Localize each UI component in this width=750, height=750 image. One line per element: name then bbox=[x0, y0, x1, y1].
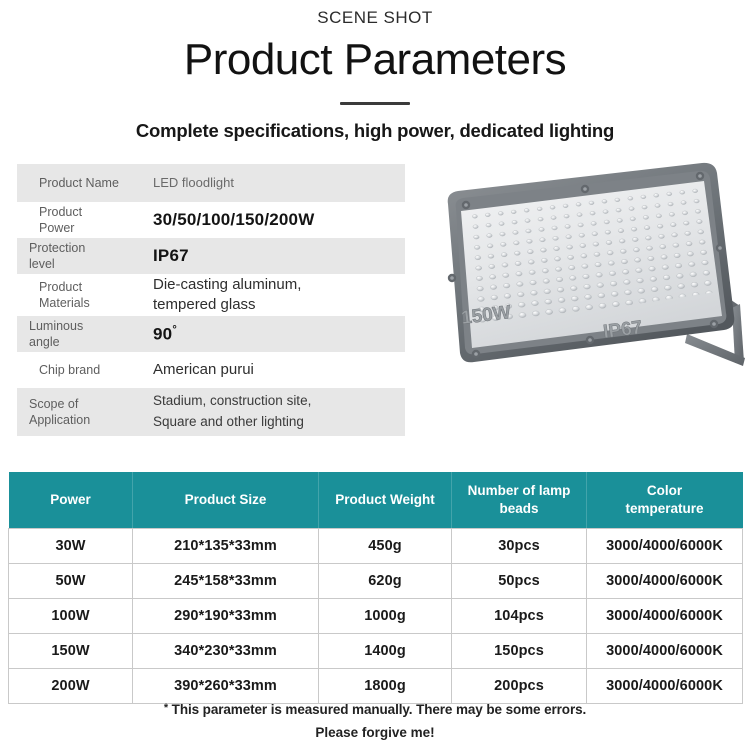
spec-key-line-1: Protection bbox=[29, 240, 145, 256]
spec-row-chip-brand: Chip brand American purui bbox=[17, 352, 405, 388]
spec-row-product-name: Product Name LED floodlight bbox=[17, 164, 405, 202]
cell-size: 290*190*33mm bbox=[133, 599, 319, 634]
spec-value-protection-level: IP67 bbox=[145, 245, 405, 267]
table-row: 150W 340*230*33mm 1400g 150pcs 3000/4000… bbox=[9, 634, 743, 669]
footer-line-1: * This parameter is measured manually. T… bbox=[0, 702, 750, 717]
spec-key-luminous-angle: Luminous angle bbox=[17, 318, 145, 350]
spec-key-line-2: angle bbox=[29, 334, 145, 350]
table-header-product-weight: Product Weight bbox=[319, 472, 452, 529]
footer-line-2: Please forgive me! bbox=[0, 725, 750, 740]
table-header-color-temperature: Color temperature bbox=[587, 472, 743, 529]
spec-key-line-1: Luminous bbox=[29, 318, 145, 334]
header-line-1: Color bbox=[591, 482, 739, 500]
spec-value-chip-brand: American purui bbox=[145, 360, 405, 380]
spec-key-line-2: Materials bbox=[39, 295, 145, 311]
cell-temperature: 3000/4000/6000K bbox=[587, 669, 743, 704]
cell-size: 245*158*33mm bbox=[133, 564, 319, 599]
product-image: 150W IP67 bbox=[404, 156, 750, 388]
page-header: SCENE SHOT Product Parameters Complete s… bbox=[0, 0, 750, 142]
floodlight-illustration: 150W IP67 bbox=[404, 156, 750, 388]
table-row: 200W 390*260*33mm 1800g 200pcs 3000/4000… bbox=[9, 669, 743, 704]
spec-row-scope-of-application: Scope of Application Stadium, constructi… bbox=[17, 388, 405, 436]
cell-power: 100W bbox=[9, 599, 133, 634]
spec-value-scope-of-application: Stadium, construction site, Square and o… bbox=[145, 391, 405, 433]
angle-number: 90 bbox=[153, 324, 172, 343]
header-line-2: temperature bbox=[591, 500, 739, 518]
spec-value-line-1: Die-casting aluminum, bbox=[153, 275, 405, 295]
cell-beads: 30pcs bbox=[452, 529, 587, 564]
eyebrow-label: SCENE SHOT bbox=[0, 8, 750, 28]
degree-symbol: ° bbox=[172, 324, 177, 336]
table-header-product-size: Product Size bbox=[133, 472, 319, 529]
cell-temperature: 3000/4000/6000K bbox=[587, 564, 743, 599]
spec-key-line-2: Application bbox=[29, 412, 145, 428]
cell-beads: 150pcs bbox=[452, 634, 587, 669]
footer-line-1-text: This parameter is measured manually. The… bbox=[172, 702, 586, 717]
table-header-row: Power Product Size Product Weight Number… bbox=[9, 472, 743, 529]
asterisk-icon: * bbox=[164, 702, 168, 714]
spec-key-product-materials: Product Materials bbox=[17, 279, 145, 311]
cell-beads: 200pcs bbox=[452, 669, 587, 704]
spec-value-product-name: LED floodlight bbox=[145, 175, 405, 192]
header-line-1: Number of lamp bbox=[456, 482, 583, 500]
cell-weight: 1000g bbox=[319, 599, 452, 634]
table-row: 50W 245*158*33mm 620g 50pcs 3000/4000/60… bbox=[9, 564, 743, 599]
footer-note: * This parameter is measured manually. T… bbox=[0, 702, 750, 740]
table-body: 30W 210*135*33mm 450g 30pcs 3000/4000/60… bbox=[9, 529, 743, 704]
cell-beads: 104pcs bbox=[452, 599, 587, 634]
spec-key-line-1: Product bbox=[39, 204, 145, 220]
page-subtitle: Complete specifications, high power, ded… bbox=[0, 120, 750, 142]
cell-size: 210*135*33mm bbox=[133, 529, 319, 564]
cell-temperature: 3000/4000/6000K bbox=[587, 634, 743, 669]
spec-key-line-2: level bbox=[29, 256, 145, 272]
cell-power: 30W bbox=[9, 529, 133, 564]
title-divider bbox=[340, 102, 410, 105]
cell-power: 200W bbox=[9, 669, 133, 704]
cell-weight: 1400g bbox=[319, 634, 452, 669]
spec-key-scope-of-application: Scope of Application bbox=[17, 396, 145, 428]
cell-temperature: 3000/4000/6000K bbox=[587, 529, 743, 564]
cell-beads: 50pcs bbox=[452, 564, 587, 599]
spec-key-line-1: Scope of bbox=[29, 396, 145, 412]
cell-temperature: 3000/4000/6000K bbox=[587, 599, 743, 634]
spec-value-line-2: Square and other lighting bbox=[153, 412, 405, 433]
spec-row-product-materials: Product Materials Die-casting aluminum, … bbox=[17, 274, 405, 316]
cell-power: 50W bbox=[9, 564, 133, 599]
spec-key-product-name: Product Name bbox=[17, 175, 145, 191]
page-title: Product Parameters bbox=[0, 35, 750, 86]
spec-row-protection-level: Protection level IP67 bbox=[17, 238, 405, 274]
spec-value-line-2: tempered glass bbox=[153, 295, 405, 315]
cell-weight: 1800g bbox=[319, 669, 452, 704]
cell-weight: 620g bbox=[319, 564, 452, 599]
spec-key-line-2: Power bbox=[39, 220, 145, 236]
spec-key-protection-level: Protection level bbox=[17, 240, 145, 272]
spec-key-line-1: Product bbox=[39, 279, 145, 295]
table-header-lamp-beads: Number of lamp beads bbox=[452, 472, 587, 529]
cell-power: 150W bbox=[9, 634, 133, 669]
specification-table: Product Name LED floodlight Product Powe… bbox=[17, 164, 405, 436]
spec-value-product-materials: Die-casting aluminum, tempered glass bbox=[145, 275, 405, 314]
cell-size: 340*230*33mm bbox=[133, 634, 319, 669]
cell-weight: 450g bbox=[319, 529, 452, 564]
header-line-2: beads bbox=[456, 500, 583, 518]
table-header-power: Power bbox=[9, 472, 133, 529]
spec-row-luminous-angle: Luminous angle 90° bbox=[17, 316, 405, 352]
cell-size: 390*260*33mm bbox=[133, 669, 319, 704]
spec-row-product-power: Product Power 30/50/100/150/200W bbox=[17, 202, 405, 238]
table-row: 30W 210*135*33mm 450g 30pcs 3000/4000/60… bbox=[9, 529, 743, 564]
parameters-table: Power Product Size Product Weight Number… bbox=[8, 472, 743, 704]
spec-key-product-power: Product Power bbox=[17, 204, 145, 236]
table-row: 100W 290*190*33mm 1000g 104pcs 3000/4000… bbox=[9, 599, 743, 634]
spec-and-image-section: Product Name LED floodlight Product Powe… bbox=[0, 164, 750, 434]
spec-value-line-1: Stadium, construction site, bbox=[153, 391, 405, 412]
spec-key-chip-brand: Chip brand bbox=[17, 362, 145, 378]
spec-value-product-power: 30/50/100/150/200W bbox=[145, 209, 405, 231]
spec-value-luminous-angle: 90° bbox=[145, 323, 405, 346]
title-divider-wrap bbox=[0, 102, 750, 116]
